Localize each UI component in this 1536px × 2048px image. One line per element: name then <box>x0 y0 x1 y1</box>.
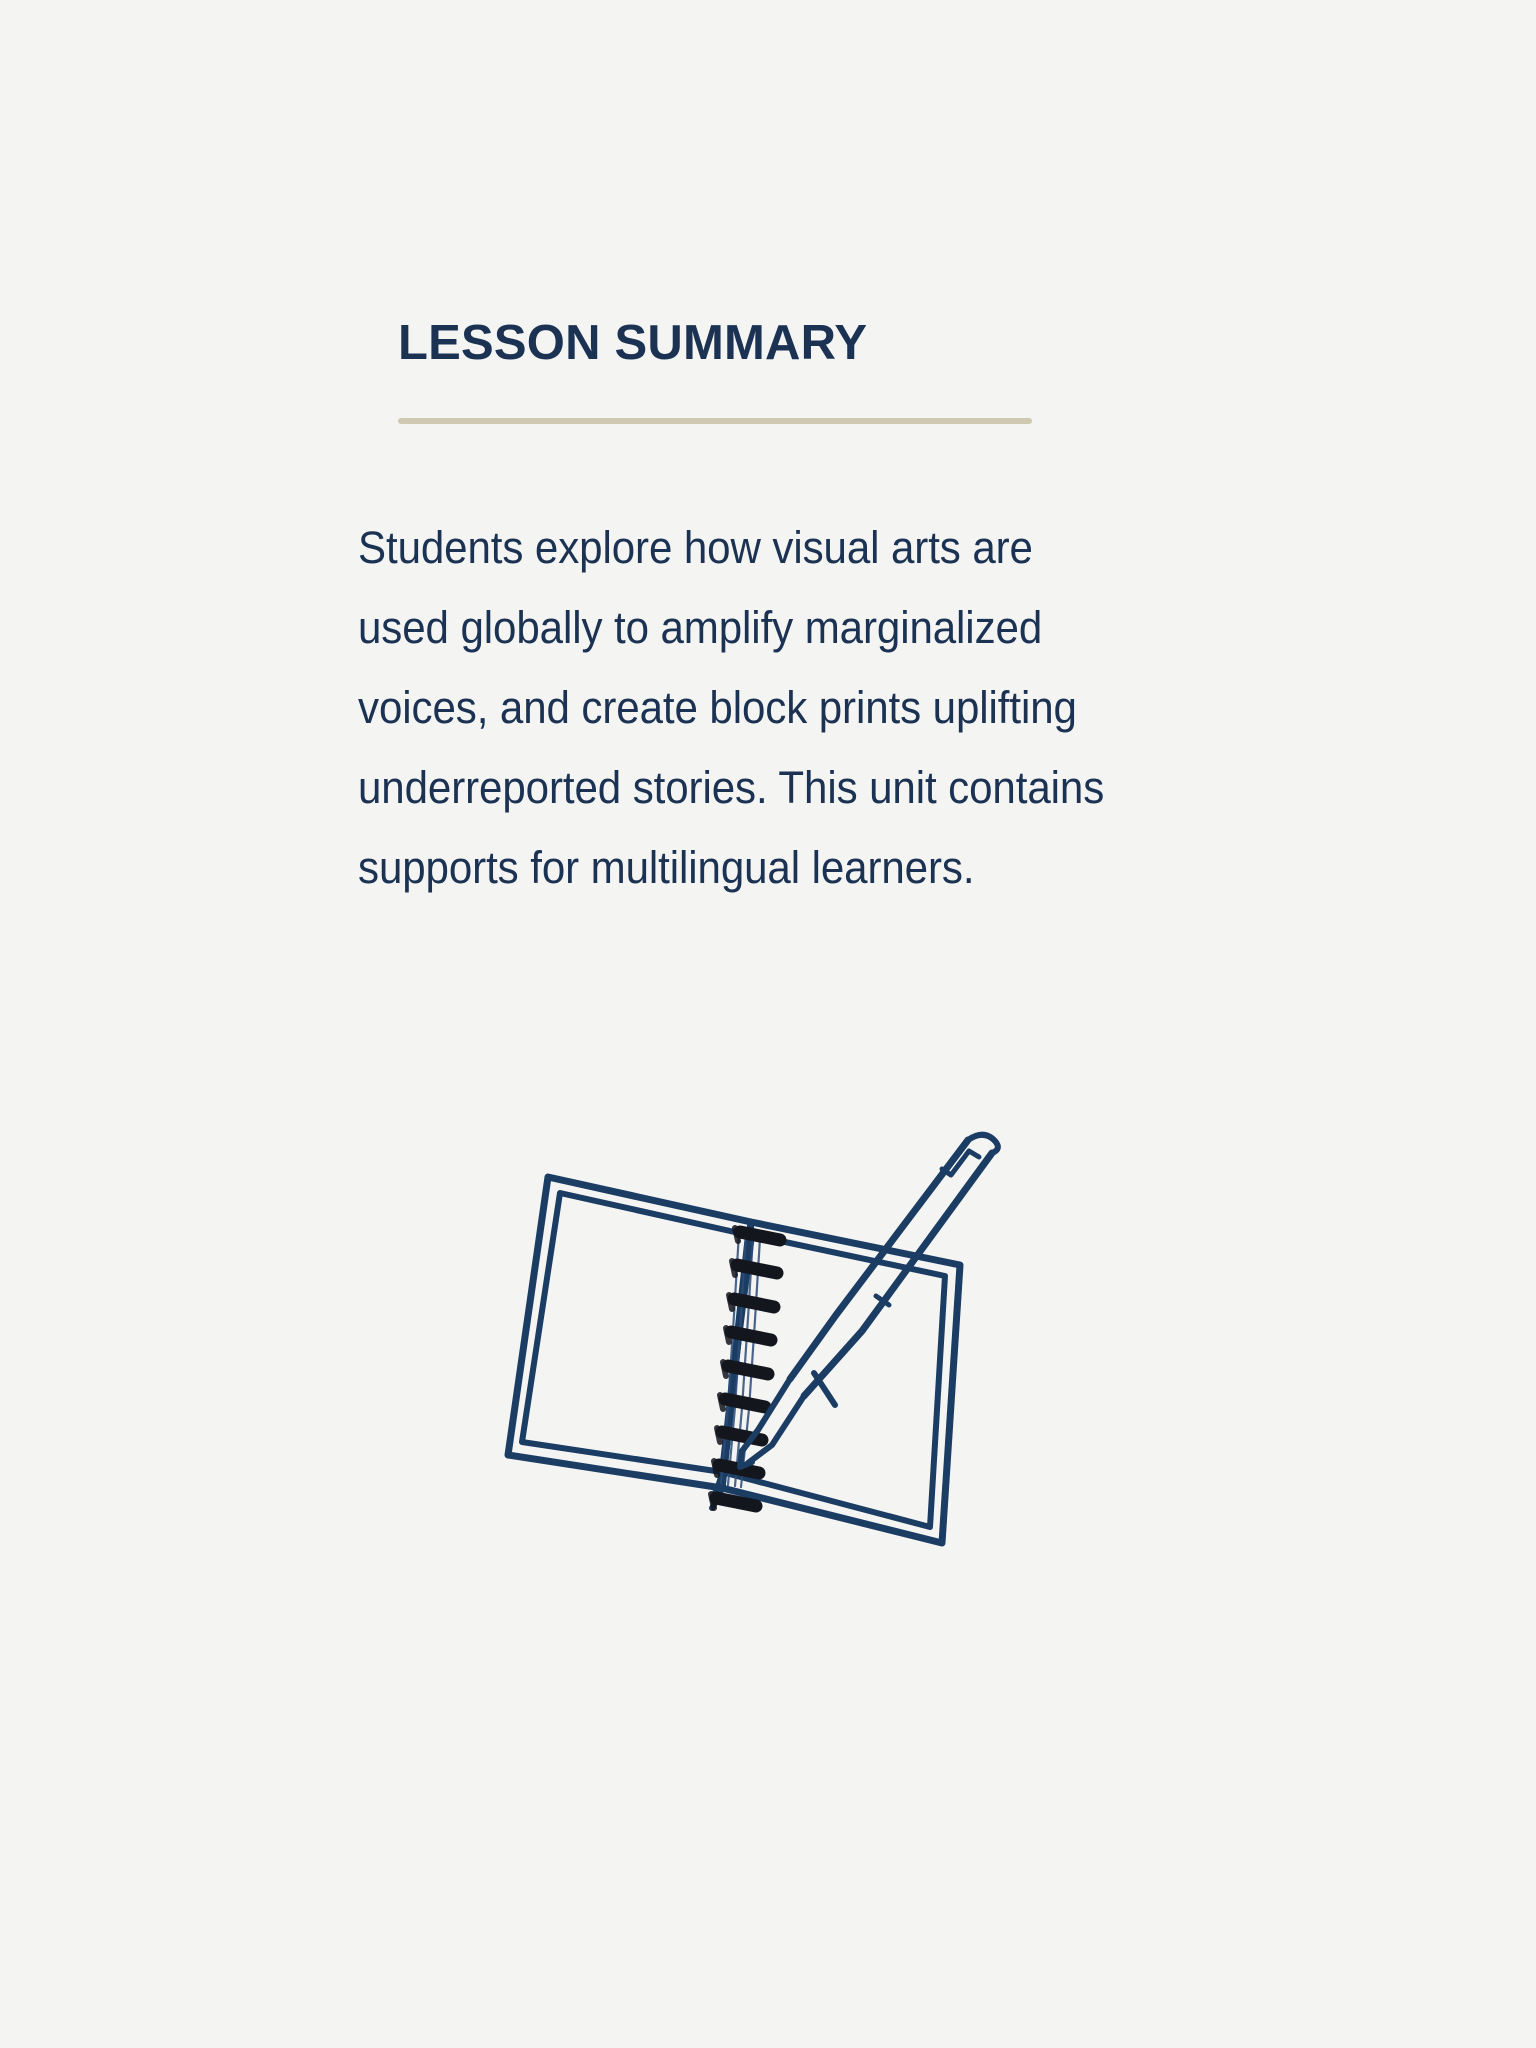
heading-block: LESSON SUMMARY <box>398 318 1038 369</box>
notebook-left-page <box>508 1177 751 1488</box>
open-notebook-with-pen-icon <box>490 1115 1050 1555</box>
summary-card: LESSON SUMMARY Students explore how visu… <box>0 0 1536 2048</box>
page-title: LESSON SUMMARY <box>398 318 1038 369</box>
title-divider <box>398 418 1032 424</box>
lesson-summary-text: Students explore how visual arts are use… <box>358 508 1125 908</box>
notebook-pen-svg <box>490 1115 1050 1555</box>
lesson-summary-page: LESSON SUMMARY Students explore how visu… <box>0 0 1536 2048</box>
